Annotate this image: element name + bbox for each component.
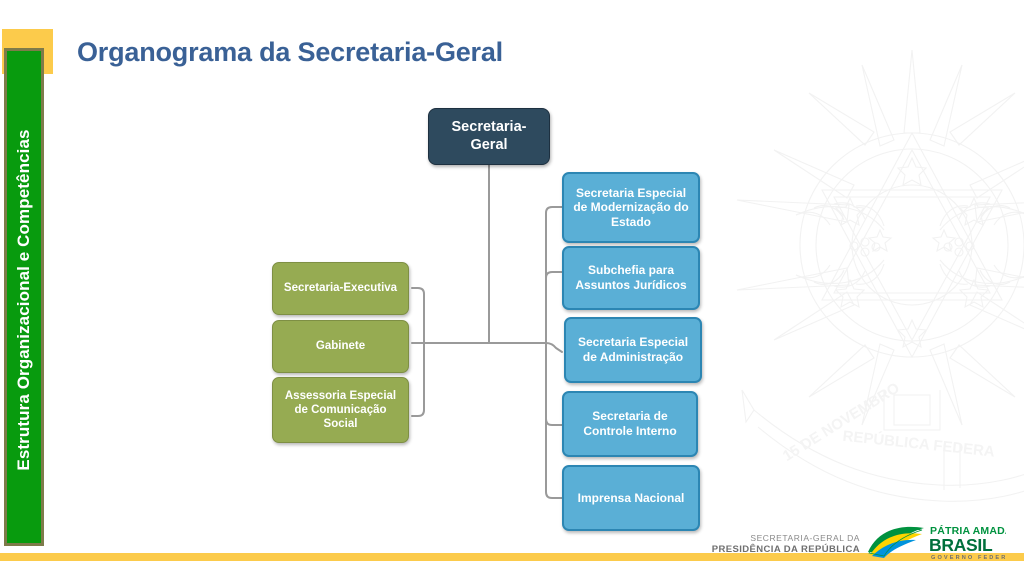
node-secretaria-modernizacao-estado[interactable]: Secretaria Especial de Modernização do E… — [562, 172, 700, 243]
node-label: Secretaria Especial de Administração — [573, 335, 693, 364]
brasil-flag-swoosh — [868, 527, 924, 558]
node-gabinete[interactable]: Gabinete — [272, 320, 409, 373]
node-subchefia-assuntos-juridicos[interactable]: Subchefia para Assuntos Jurídicos — [562, 246, 700, 310]
slide-canvas: 15 DE NOVEMBRO REPÚBLICA FEDERA Estrutur… — [0, 0, 1024, 576]
node-label: Secretaria-Executiva — [284, 281, 397, 295]
node-assessoria-comunicacao-social[interactable]: Assessoria Especial de Comunicação Socia… — [272, 377, 409, 443]
node-label: Gabinete — [316, 339, 365, 353]
svg-text:GOVERNO FEDERAL: GOVERNO FEDERAL — [931, 555, 1006, 561]
governo-federal-logo: PÁTRIA AMADA BRASIL GOVERNO FEDERAL — [866, 522, 1006, 562]
node-label: Secretaria Especial de Modernização do E… — [571, 186, 691, 230]
node-label: Subchefia para Assuntos Jurídicos — [571, 263, 691, 292]
node-secretaria-controle-interno[interactable]: Secretaria de Controle Interno — [562, 391, 698, 457]
connector-lines — [0, 0, 1024, 576]
node-label: Secretaria de Controle Interno — [571, 409, 689, 438]
node-label: Secretaria-Geral — [436, 119, 542, 154]
node-root[interactable]: Secretaria-Geral — [428, 108, 550, 165]
footer-org-line1: SECRETARIA-GERAL DA — [712, 533, 860, 544]
node-secretaria-administracao[interactable]: Secretaria Especial de Administração — [564, 317, 702, 383]
footer-org-line2: PRESIDÊNCIA DA REPÚBLICA — [712, 544, 860, 556]
svg-text:BRASIL: BRASIL — [929, 535, 993, 555]
node-imprensa-nacional[interactable]: Imprensa Nacional — [562, 465, 700, 531]
node-label: Assessoria Especial de Comunicação Socia… — [280, 389, 401, 431]
node-label: Imprensa Nacional — [578, 491, 685, 506]
footer-org-text: SECRETARIA-GERAL DA PRESIDÊNCIA DA REPÚB… — [712, 533, 860, 556]
org-chart: Secretaria-Geral Secretaria-Executiva Ga… — [0, 0, 1024, 576]
node-secretaria-executiva[interactable]: Secretaria-Executiva — [272, 262, 409, 315]
